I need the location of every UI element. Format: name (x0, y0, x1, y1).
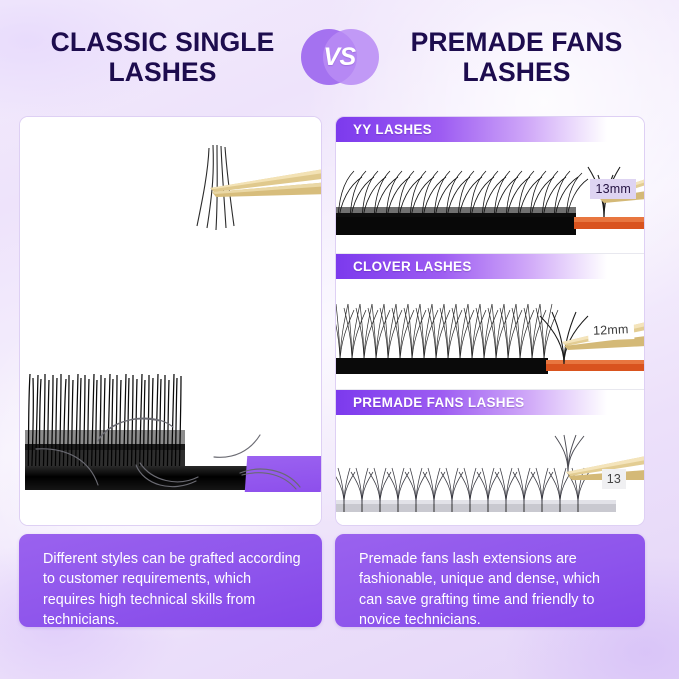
left-caption: Different styles can be grafted accordin… (19, 534, 322, 627)
header: CLASSIC SINGLE LASHES VS PREMADE FANS LA… (0, 0, 679, 114)
section-tag-label: YY LASHES (336, 122, 432, 137)
individual-lashes-illustration (28, 389, 322, 526)
section-tag-clover: CLOVER LASHES (336, 254, 644, 279)
measurement-label-premade: 13 (602, 469, 626, 489)
left-panel-title: CLASSIC SINGLE LASHES (31, 27, 299, 87)
section-tag-yy: YY LASHES (336, 117, 644, 142)
right-caption: Premade fans lash extensions are fashion… (335, 534, 645, 627)
section-clover-lashes: CLOVER LASHES (336, 253, 644, 389)
left-product-card (19, 116, 322, 526)
comparison-infographic: CLASSIC SINGLE LASHES VS PREMADE FANS LA… (0, 0, 679, 679)
section-premade-fans: PREMADE FANS LASHES (336, 389, 644, 526)
measurement-label-clover: 12mm (588, 319, 634, 341)
measurement-label-yy: 13mm (590, 179, 636, 199)
tweezers-icon (170, 142, 322, 262)
right-panel-title: PREMADE FANS LASHES (381, 27, 649, 87)
classic-lashes-photo (20, 117, 321, 525)
vs-badge: VS (299, 26, 381, 88)
section-yy-lashes: YY LASHES (336, 117, 644, 253)
section-tag-label: PREMADE FANS LASHES (336, 395, 524, 410)
vs-label: VS (323, 43, 355, 72)
right-product-card: YY LASHES (335, 116, 645, 526)
section-tag-label: CLOVER LASHES (336, 259, 472, 274)
section-tag-premade: PREMADE FANS LASHES (336, 390, 644, 415)
premade-fans-tray (336, 434, 645, 526)
